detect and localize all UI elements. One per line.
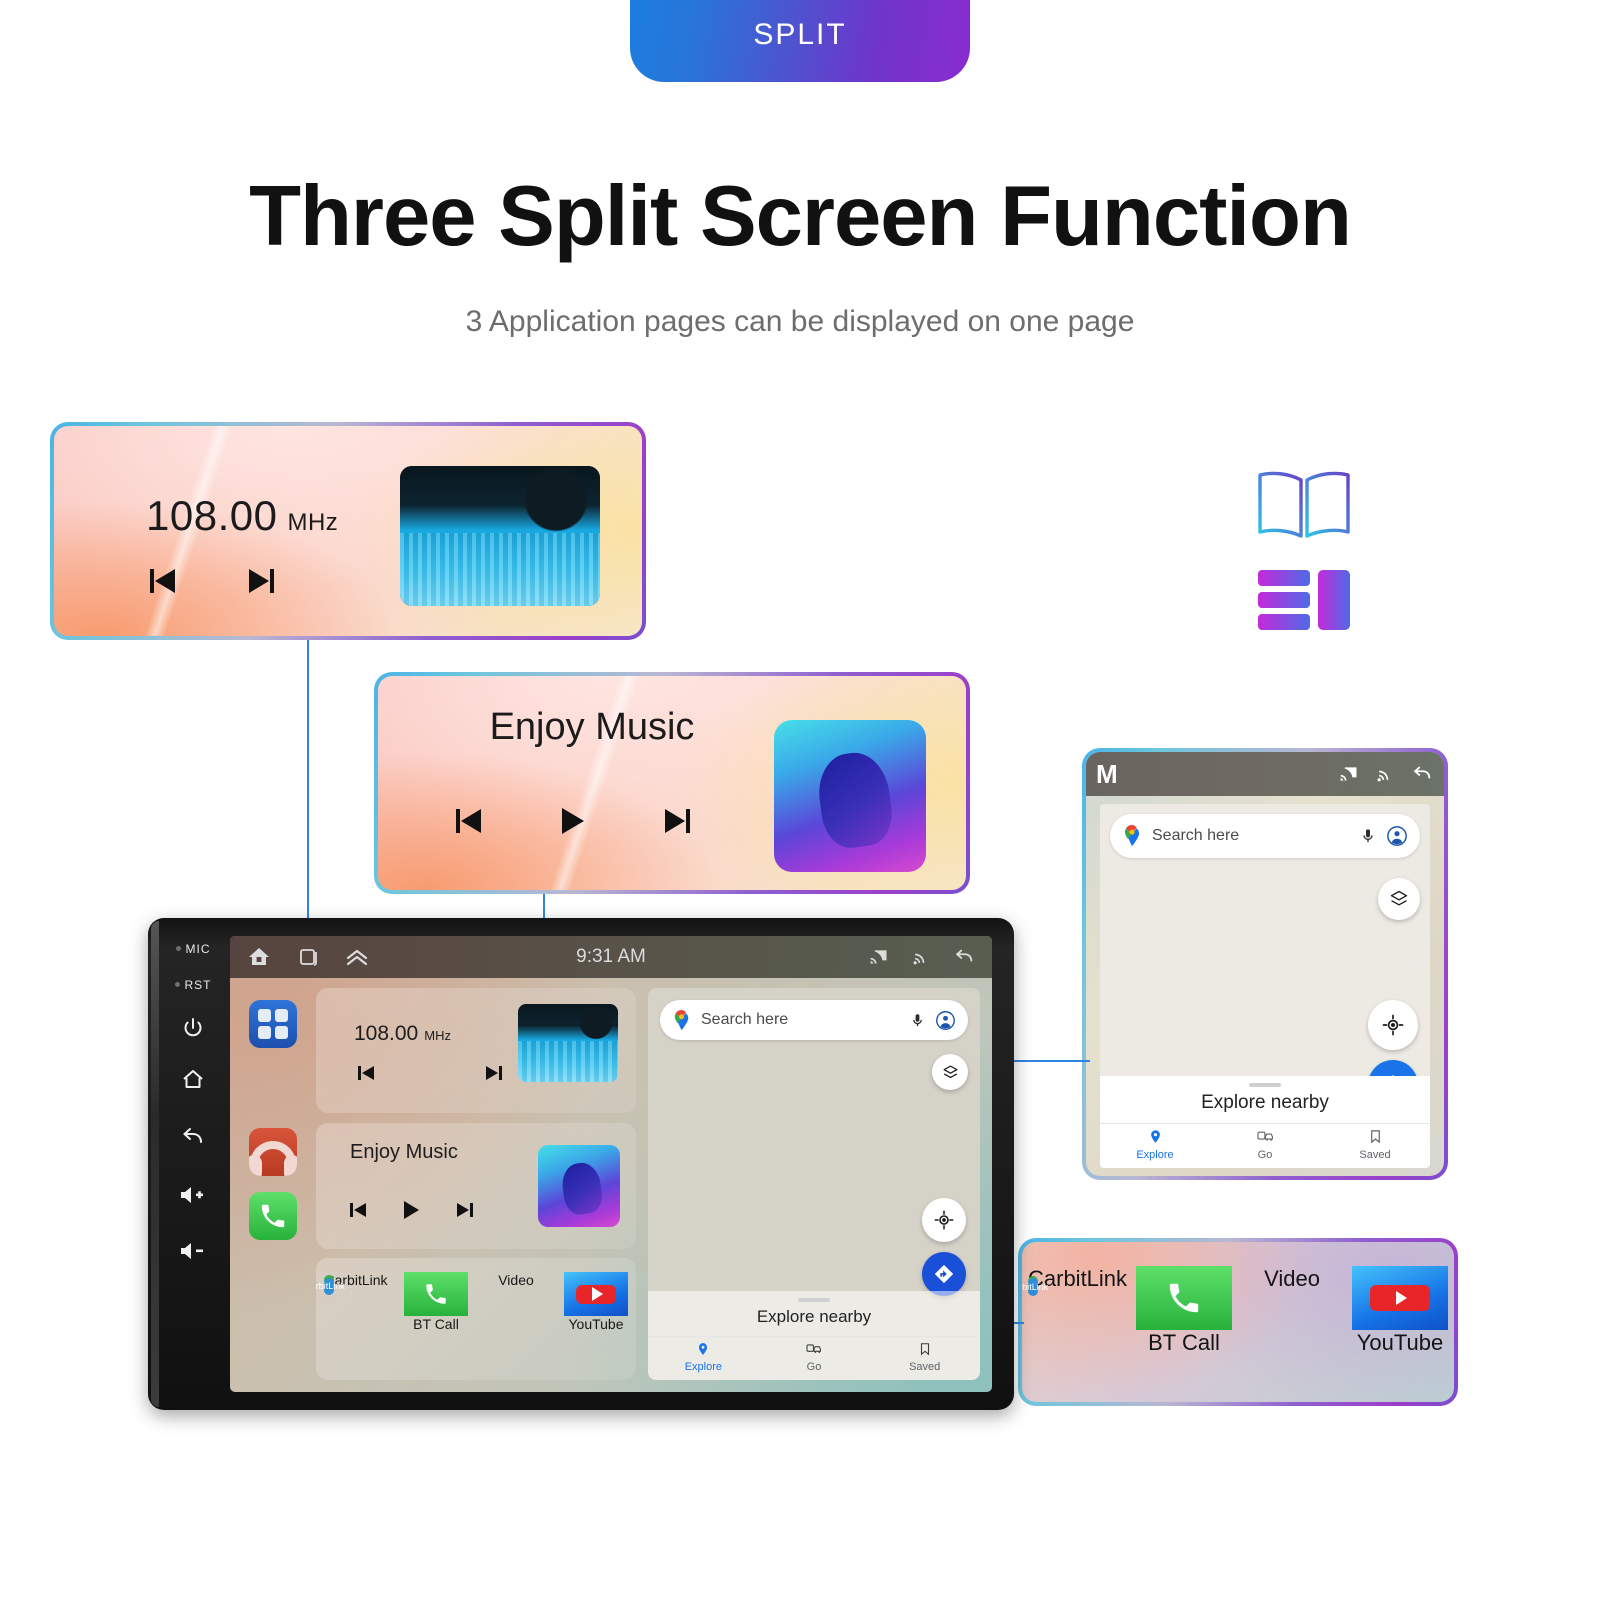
music-player-card: Enjoy Music: [374, 672, 970, 894]
directions-icon: [933, 1263, 955, 1285]
split-music-panel[interactable]: Enjoy Music: [316, 1123, 636, 1248]
bezel-back-button[interactable]: [162, 1124, 224, 1153]
split-app-label: YouTube: [568, 1316, 623, 1332]
map-tab-saved[interactable]: Saved: [1320, 1124, 1430, 1168]
power-icon: [181, 1016, 205, 1040]
back-icon[interactable]: [952, 946, 976, 968]
split-fm-panel[interactable]: 108.00MHz: [316, 988, 636, 1113]
map-tab-go[interactable]: Go: [1210, 1124, 1320, 1168]
map-status-icons: [1338, 763, 1434, 785]
dock-assistant[interactable]: [252, 1256, 294, 1298]
layers-icon: [942, 1064, 959, 1081]
music-controls: [456, 806, 690, 836]
split-layout-icon: [1252, 565, 1356, 635]
map-bottom-sheet[interactable]: Explore nearby Explore Go Saved: [1100, 1076, 1430, 1168]
split-map-tab-explore[interactable]: Explore: [648, 1337, 759, 1380]
my-location-icon: [933, 1209, 955, 1231]
banner-label: SPLIT: [630, 18, 970, 52]
split-fm-controls: [358, 1064, 502, 1082]
play-icon[interactable]: [562, 808, 584, 834]
system-status-bar: 9:31 AM: [230, 936, 992, 978]
split-music-controls: [350, 1201, 473, 1219]
skip-next-icon[interactable]: [484, 1064, 502, 1082]
bookmark-icon: [1369, 1129, 1382, 1144]
microphone-icon[interactable]: [910, 1012, 925, 1029]
split-app-carbitlink[interactable]: CarbitLink CarbitLink: [324, 1272, 388, 1316]
split-map-layers-button[interactable]: [932, 1054, 968, 1090]
map-search-placeholder: Search here: [1152, 827, 1350, 845]
split-explore-nearby-title: Explore nearby: [648, 1302, 980, 1336]
split-map-locate-button[interactable]: [922, 1198, 966, 1242]
split-map-tab-bar: Explore Go Saved: [648, 1336, 980, 1380]
split-apps-row: CarbitLink CarbitLink BT Call Video YouT…: [316, 1272, 636, 1316]
map-tab-bar: Explore Go Saved: [1100, 1123, 1430, 1168]
phone-icon: [404, 1272, 468, 1316]
skip-previous-icon[interactable]: [150, 566, 180, 596]
map-status-bar: M: [1086, 752, 1444, 796]
microphone-icon[interactable]: [1360, 827, 1376, 845]
status-bar-right-icons: [868, 946, 976, 968]
dock-music[interactable]: [249, 1128, 297, 1176]
map-tab-label: Go: [1210, 1149, 1320, 1161]
split-icon-group: [1252, 470, 1362, 640]
device-screen[interactable]: 9:31 AM 108.00MHz: [230, 936, 992, 1392]
map-card-surface: M Search here: [1086, 752, 1444, 1176]
map-card: M Search here: [1082, 748, 1448, 1180]
volume-up-icon: [178, 1184, 208, 1206]
split-music-title: Enjoy Music: [350, 1141, 458, 1164]
home-icon: [180, 1068, 206, 1092]
split-app-label: Video: [498, 1272, 534, 1288]
split-app-youtube[interactable]: YouTube: [564, 1272, 628, 1316]
dock-maps[interactable]: [249, 1064, 297, 1112]
top-banner: SPLIT: [0, 0, 1600, 88]
phone-icon: [1136, 1266, 1232, 1330]
music-artwork: [774, 720, 926, 872]
mic-led: [176, 946, 181, 951]
app-bt-call[interactable]: BT Call: [1136, 1266, 1232, 1330]
fm-controls: [150, 566, 274, 596]
wifi-icon[interactable]: [1374, 764, 1396, 784]
apps-row: CarbitLink CarbitLink BT Call Video YouT…: [1022, 1266, 1454, 1330]
youtube-icon: [1352, 1266, 1448, 1330]
banner-left-curve: [572, 0, 632, 46]
app-label: YouTube: [1357, 1330, 1443, 1355]
explore-nearby-title: Explore nearby: [1100, 1087, 1430, 1123]
commute-icon: [806, 1342, 822, 1356]
fm-artwork: [400, 466, 600, 606]
split-apps-panel[interactable]: CarbitLink CarbitLink BT Call Video YouT…: [316, 1258, 636, 1380]
device-bezel-left: MIC RST: [162, 928, 224, 1400]
app-label: Video: [1264, 1266, 1320, 1291]
map-tab-explore[interactable]: Explore: [1100, 1124, 1210, 1168]
recents-icon[interactable]: [296, 945, 320, 969]
split-map-tab-saved[interactable]: Saved: [869, 1337, 980, 1380]
map-locate-button[interactable]: [1368, 1000, 1418, 1050]
wifi-icon[interactable]: [910, 947, 932, 967]
split-map-bottom-sheet[interactable]: Explore nearby Explore Go Saved: [648, 1291, 980, 1380]
bezel-home-button[interactable]: [162, 1068, 224, 1097]
split-app-label: BT Call: [413, 1316, 459, 1332]
volume-down-icon: [178, 1240, 208, 1262]
bezel-mic-label: MIC: [186, 942, 211, 956]
map-app-initial: M: [1096, 759, 1118, 790]
split-map-tab-label: Explore: [648, 1361, 759, 1373]
cast-icon[interactable]: [868, 947, 890, 967]
place-pin-icon: [696, 1342, 710, 1356]
place-pin-icon: [1148, 1129, 1163, 1144]
fm-radio-card: 108.00MHz: [50, 422, 646, 640]
bezel-mic: MIC: [162, 940, 224, 958]
music-card-surface: Enjoy Music: [378, 676, 966, 890]
split-app-bt-call[interactable]: BT Call: [404, 1272, 468, 1316]
play-icon[interactable]: [404, 1201, 419, 1219]
my-location-icon: [1381, 1013, 1405, 1037]
car-head-unit: MIC RST 9:31 AM: [148, 918, 1014, 1410]
split-map-panel[interactable]: Search here Explore nearby Explore: [648, 988, 980, 1380]
google-maps-pin-icon: [1122, 825, 1142, 847]
bookmark-icon: [919, 1342, 931, 1356]
youtube-icon: [564, 1272, 628, 1316]
split-map-tab-label: Go: [759, 1361, 870, 1373]
map-search-bar[interactable]: Search here: [1110, 814, 1420, 858]
dock-all-apps[interactable]: [249, 1000, 297, 1048]
cast-icon[interactable]: [1338, 764, 1360, 784]
fm-radio-card-surface: 108.00MHz: [54, 426, 642, 636]
chevron-up-icon[interactable]: [344, 945, 370, 969]
apps-shortcut-card: CarbitLink CarbitLink BT Call Video YouT…: [1018, 1238, 1458, 1406]
split-music-artwork: [538, 1145, 620, 1227]
bezel-volume-up-button[interactable]: [162, 1184, 224, 1211]
rst-led: [175, 982, 180, 987]
skip-previous-icon[interactable]: [358, 1064, 376, 1082]
banner-right-curve: [968, 0, 1028, 46]
bezel-volume-down-button[interactable]: [162, 1240, 224, 1267]
app-label: BT Call: [1148, 1330, 1220, 1355]
split-map-tab-label: Saved: [869, 1361, 980, 1373]
page-subtitle: 3 Application pages can be displayed on …: [0, 305, 1600, 339]
map-layers-button[interactable]: [1378, 878, 1420, 920]
split-app-video[interactable]: Video: [484, 1272, 548, 1316]
map-tab-label: Explore: [1100, 1149, 1210, 1161]
split-fm-frequency: 108.00MHz: [354, 1022, 451, 1046]
skip-next-icon[interactable]: [660, 806, 690, 836]
app-carbitlink[interactable]: CarbitLink CarbitLink: [1028, 1266, 1124, 1330]
fm-frequency-value: 108.00: [146, 492, 277, 539]
split-map-search-placeholder: Search here: [701, 1011, 900, 1029]
back-icon: [180, 1124, 206, 1148]
split-fm-artwork: [518, 1004, 618, 1082]
skip-previous-icon[interactable]: [350, 1201, 368, 1219]
map-viewport[interactable]: Search here Explore nearby Explore: [1100, 804, 1430, 1168]
split-map-search-bar[interactable]: Search here: [660, 1000, 968, 1040]
google-maps-pin-icon: [672, 1010, 691, 1031]
account-icon[interactable]: [935, 1010, 956, 1031]
layers-icon: [1389, 889, 1409, 909]
app-video[interactable]: Video: [1244, 1266, 1340, 1330]
skip-next-icon[interactable]: [244, 566, 274, 596]
skip-next-icon[interactable]: [455, 1201, 473, 1219]
back-icon[interactable]: [1410, 763, 1434, 785]
open-book-split-icon: [1252, 470, 1356, 542]
apps-card-surface: CarbitLink CarbitLink BT Call Video YouT…: [1022, 1242, 1454, 1402]
bezel-rst: RST: [162, 976, 224, 994]
page-title: Three Split Screen Function: [0, 168, 1600, 266]
app-youtube[interactable]: YouTube: [1352, 1266, 1448, 1330]
account-icon[interactable]: [1386, 825, 1408, 847]
bezel-power-button[interactable]: [162, 1016, 224, 1045]
skip-previous-icon[interactable]: [456, 806, 486, 836]
home-icon[interactable]: [246, 945, 272, 969]
commute-icon: [1257, 1129, 1274, 1144]
split-map-directions-button[interactable]: [922, 1252, 966, 1296]
screen-dock: [242, 988, 304, 1384]
bezel-rst-label: RST: [185, 978, 212, 992]
map-tab-label: Saved: [1320, 1149, 1430, 1161]
fm-frequency-unit: MHz: [287, 509, 338, 536]
split-left-column: 108.00MHz Enjoy Music: [316, 988, 636, 1380]
fm-frequency: 108.00MHz: [146, 492, 338, 540]
split-fm-unit: MHz: [424, 1028, 451, 1043]
split-map-tab-go[interactable]: Go: [759, 1337, 870, 1380]
dock-phone[interactable]: [249, 1192, 297, 1240]
